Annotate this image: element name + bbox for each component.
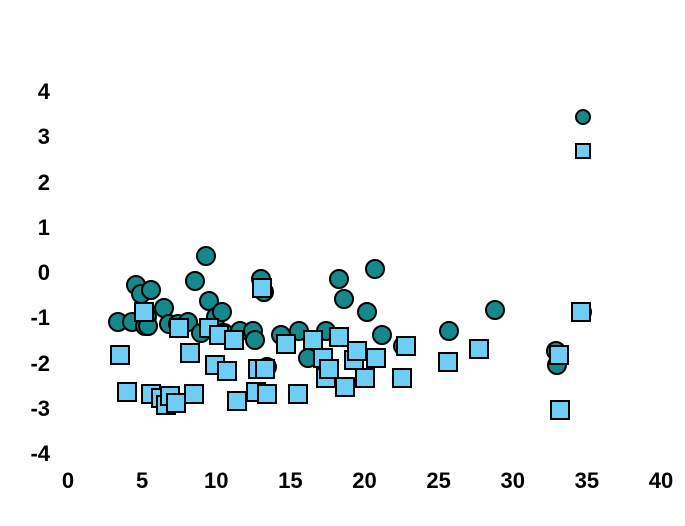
data-point-ppn bbox=[117, 382, 137, 402]
data-point-ppn bbox=[316, 368, 336, 388]
data-point-ppw bbox=[289, 321, 309, 341]
data-point-ppw bbox=[168, 314, 188, 334]
x-tick-label: 40 bbox=[641, 468, 681, 494]
data-point-ppw bbox=[159, 314, 179, 334]
data-point-ppw bbox=[572, 302, 592, 322]
data-point-ppw bbox=[365, 259, 385, 279]
chart-title bbox=[30, 2, 620, 30]
data-point-ppw bbox=[122, 312, 142, 332]
chart-legend bbox=[575, 100, 602, 168]
data-point-ppn bbox=[169, 318, 189, 338]
legend-entry-ppn[interactable] bbox=[575, 134, 602, 168]
data-point-ppn bbox=[550, 400, 570, 420]
data-point-ppn bbox=[166, 393, 186, 413]
y-tick-label: -3 bbox=[16, 396, 50, 422]
data-point-ppw bbox=[271, 325, 291, 345]
data-point-ppw bbox=[329, 269, 349, 289]
data-point-ppn bbox=[205, 355, 225, 375]
x-tick-label: 10 bbox=[196, 468, 236, 494]
data-point-ppn bbox=[224, 330, 244, 350]
data-point-ppn bbox=[549, 345, 569, 365]
data-point-ppn bbox=[329, 327, 349, 347]
data-point-ppn bbox=[347, 341, 367, 361]
data-point-ppw bbox=[372, 325, 392, 345]
data-point-ppw bbox=[316, 321, 336, 341]
data-point-ppn bbox=[438, 352, 458, 372]
data-point-ppw bbox=[254, 282, 274, 302]
x-tick-label: 30 bbox=[493, 468, 533, 494]
data-point-ppn bbox=[248, 359, 268, 379]
data-point-ppn bbox=[355, 368, 375, 388]
y-tick-label: 0 bbox=[16, 260, 50, 286]
data-point-ppn bbox=[199, 318, 219, 338]
data-point-ppw bbox=[439, 321, 459, 341]
legend-entry-ppw[interactable] bbox=[575, 100, 602, 134]
x-tick-label: 15 bbox=[270, 468, 310, 494]
x-tick-label: 0 bbox=[48, 468, 88, 494]
data-point-ppn bbox=[110, 345, 130, 365]
square-icon bbox=[575, 143, 591, 159]
data-point-ppw bbox=[485, 300, 505, 320]
data-points-layer bbox=[0, 0, 685, 526]
data-point-ppn bbox=[160, 386, 180, 406]
y-tick-label: 1 bbox=[16, 215, 50, 241]
data-point-ppw bbox=[108, 312, 128, 332]
data-point-ppn bbox=[246, 382, 266, 402]
data-point-ppw bbox=[138, 316, 158, 336]
y-tick-label: -1 bbox=[16, 305, 50, 331]
data-point-ppn bbox=[276, 334, 296, 354]
data-point-ppw bbox=[199, 291, 219, 311]
x-tick-label: 5 bbox=[122, 468, 162, 494]
data-point-ppw bbox=[243, 321, 263, 341]
data-point-ppw bbox=[191, 323, 211, 343]
data-point-ppw bbox=[206, 307, 226, 327]
data-point-ppw bbox=[546, 341, 566, 361]
data-point-ppn bbox=[257, 384, 277, 404]
x-tick-label: 20 bbox=[345, 468, 385, 494]
x-tick-label: 25 bbox=[419, 468, 459, 494]
data-point-ppw bbox=[196, 246, 216, 266]
data-point-ppw bbox=[154, 298, 174, 318]
data-point-ppn bbox=[392, 368, 412, 388]
data-point-ppw bbox=[357, 302, 377, 322]
data-point-ppn bbox=[227, 391, 247, 411]
data-point-ppw bbox=[257, 357, 277, 377]
data-point-ppw bbox=[245, 330, 265, 350]
data-point-ppn bbox=[288, 384, 308, 404]
data-point-ppn bbox=[151, 388, 171, 408]
data-point-ppw bbox=[212, 302, 232, 322]
data-point-ppw bbox=[178, 312, 198, 332]
data-point-ppn bbox=[396, 336, 416, 356]
data-point-ppn bbox=[180, 343, 200, 363]
data-point-ppw bbox=[334, 289, 354, 309]
data-point-ppn bbox=[313, 348, 333, 368]
data-point-ppn bbox=[134, 302, 154, 322]
data-point-ppw bbox=[135, 316, 155, 336]
x-tick-label: 35 bbox=[567, 468, 607, 494]
data-point-ppn bbox=[217, 361, 237, 381]
data-point-ppw bbox=[141, 280, 161, 300]
scatter-plot-figure: 43210-1-2-3-4 0510152025303540 bbox=[0, 0, 685, 526]
y-tick-label: -2 bbox=[16, 351, 50, 377]
circle-icon bbox=[575, 109, 591, 125]
plot-axes bbox=[0, 0, 685, 526]
data-point-ppw bbox=[251, 269, 271, 289]
data-point-ppw bbox=[185, 271, 205, 291]
data-point-ppn bbox=[255, 359, 275, 379]
data-point-ppn bbox=[303, 330, 323, 350]
data-point-ppn bbox=[141, 384, 161, 404]
data-point-ppw bbox=[230, 321, 250, 341]
data-point-ppn bbox=[335, 377, 355, 397]
data-point-ppn bbox=[209, 325, 229, 345]
data-point-ppn bbox=[469, 339, 489, 359]
data-point-ppn bbox=[366, 348, 386, 368]
data-point-ppw bbox=[137, 307, 157, 327]
data-point-ppn bbox=[156, 395, 176, 415]
data-point-ppn bbox=[571, 302, 591, 322]
data-point-ppn bbox=[252, 278, 272, 298]
data-point-ppw bbox=[214, 323, 234, 343]
data-point-ppw bbox=[393, 336, 413, 356]
data-point-ppw bbox=[131, 284, 151, 304]
data-point-ppn bbox=[184, 384, 204, 404]
y-tick-label: 3 bbox=[16, 124, 50, 150]
y-tick-label: 4 bbox=[16, 79, 50, 105]
data-point-ppw bbox=[547, 355, 567, 375]
data-point-ppw bbox=[126, 275, 146, 295]
y-tick-label: 2 bbox=[16, 170, 50, 196]
y-tick-label: -4 bbox=[16, 441, 50, 467]
data-point-ppw bbox=[298, 348, 318, 368]
data-point-ppn bbox=[344, 350, 364, 370]
data-point-ppn bbox=[319, 359, 339, 379]
